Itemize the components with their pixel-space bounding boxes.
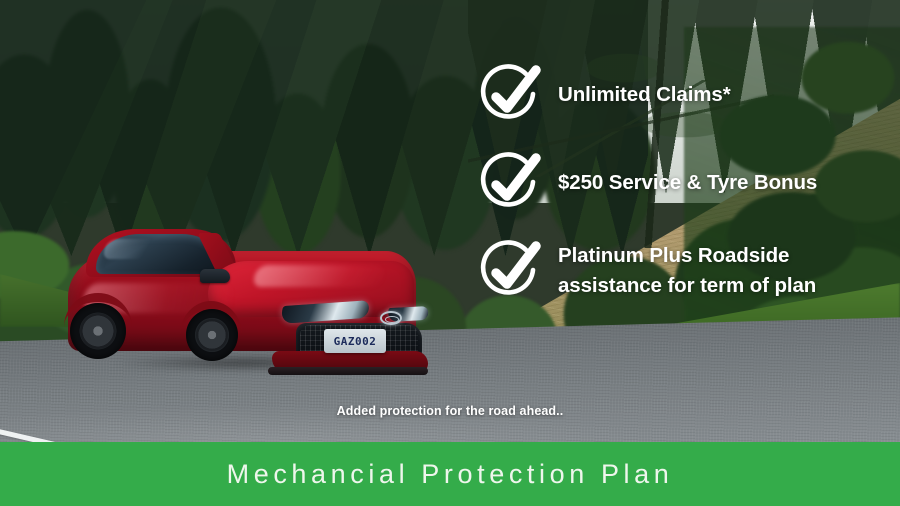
tagline: Added protection for the road ahead.. [0, 404, 900, 418]
check-circle-icon [480, 240, 542, 302]
check-circle-icon [480, 64, 542, 126]
benefit-label: Unlimited Claims* [558, 80, 731, 110]
footer-banner: Mechancial Protection Plan [0, 442, 900, 506]
front-wheel [70, 303, 126, 359]
mechanical-protection-plan-banner: GAZ002 Unlimited Claims* $250 Service & … [0, 0, 900, 506]
benefit-label: Platinum Plus Roadside assistance for te… [558, 241, 884, 300]
rear-wheel [186, 309, 238, 361]
red-sports-car: GAZ002 [58, 225, 426, 375]
hood-highlight [254, 265, 384, 287]
front-splitter [268, 367, 428, 375]
license-plate: GAZ002 [324, 329, 386, 353]
benefit-item: $250 Service & Tyre Bonus [484, 152, 884, 214]
plan-title: Mechancial Protection Plan [227, 459, 674, 490]
benefit-item: Platinum Plus Roadside assistance for te… [484, 240, 884, 302]
license-plate-text: GAZ002 [334, 335, 377, 348]
benefit-item: Unlimited Claims* [484, 64, 884, 126]
side-mirror [200, 269, 230, 283]
benefit-label: $250 Service & Tyre Bonus [558, 168, 817, 198]
check-circle-icon [480, 152, 542, 214]
car-emblem-icon [380, 311, 402, 325]
benefits-list: Unlimited Claims* $250 Service & Tyre Bo… [484, 64, 884, 302]
